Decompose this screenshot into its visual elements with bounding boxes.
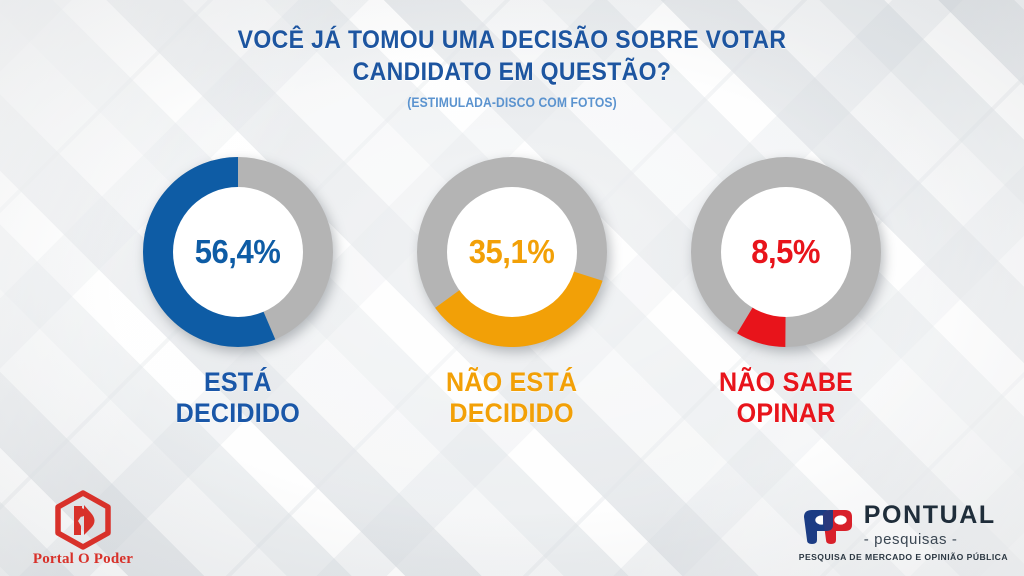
portal-o-poder-logo: Portal O Poder — [22, 490, 144, 568]
category-label: ESTÁ DECIDIDO — [176, 367, 300, 429]
page-title: VOCÊ JÁ TOMOU UMA DECISÃO SOBRE VOTAR CA… — [41, 24, 983, 88]
category-label-line-1: NÃO SABE — [719, 367, 853, 398]
donut-hole: 8,5% — [721, 187, 851, 317]
hexagon-monogram-icon — [51, 490, 115, 550]
donut-value-label: 8,5% — [752, 233, 821, 271]
pontual-subtitle: - pesquisas - — [864, 532, 996, 547]
donut-ring: 8,5% — [691, 157, 881, 347]
pontual-tagline: PESQUISA DE MERCADO E OPINIÃO PÚBLICA — [799, 552, 1008, 562]
pontual-wordmark-block: PONTUAL - pesquisas - — [864, 503, 996, 547]
category-label-line-2: OPINAR — [719, 398, 853, 429]
page-title-line-1: VOCÊ JÁ TOMOU UMA DECISÃO SOBRE VOTAR — [41, 24, 983, 56]
donut-value-label: 56,4% — [195, 233, 281, 271]
category-label-line-1: NÃO ESTÁ — [446, 367, 577, 398]
double-p-icon — [799, 504, 855, 546]
donut-chart-group: 56,4% ESTÁ DECIDIDO 35,1% NÃO ESTÁ — [0, 157, 1024, 429]
pontual-pesquisas-logo: PONTUAL - pesquisas - PESQUISA DE MERCAD… — [799, 503, 1008, 562]
page-title-line-2: CANDIDATO EM QUESTÃO? — [41, 56, 983, 88]
chart-header: VOCÊ JÁ TOMOU UMA DECISÃO SOBRE VOTAR CA… — [0, 24, 1024, 110]
infographic-canvas: VOCÊ JÁ TOMOU UMA DECISÃO SOBRE VOTAR CA… — [0, 0, 1024, 576]
category-label-line-1: ESTÁ — [176, 367, 300, 398]
donut-ring: 56,4% — [143, 157, 333, 347]
category-label: NÃO SABE OPINAR — [719, 367, 853, 429]
category-label-line-2: DECIDIDO — [176, 398, 300, 429]
donut-value-label: 35,1% — [469, 233, 555, 271]
pontual-logo-row: PONTUAL - pesquisas - — [799, 503, 1008, 547]
donut-hole: 56,4% — [173, 187, 303, 317]
donut-hole: 35,1% — [447, 187, 577, 317]
donut-chart-nao-esta-decidido: 35,1% NÃO ESTÁ DECIDIDO — [396, 157, 628, 429]
donut-ring: 35,1% — [417, 157, 607, 347]
category-label: NÃO ESTÁ DECIDIDO — [446, 367, 577, 429]
donut-chart-esta-decidido: 56,4% ESTÁ DECIDIDO — [122, 157, 354, 429]
portal-o-poder-wordmark: Portal O Poder — [22, 551, 144, 568]
page-subtitle: (ESTIMULADA-DISCO COM FOTOS) — [51, 95, 973, 110]
donut-chart-nao-sabe-opinar: 8,5% NÃO SABE OPINAR — [670, 157, 902, 429]
category-label-line-2: DECIDIDO — [446, 398, 577, 429]
pontual-name: PONTUAL — [864, 503, 996, 528]
